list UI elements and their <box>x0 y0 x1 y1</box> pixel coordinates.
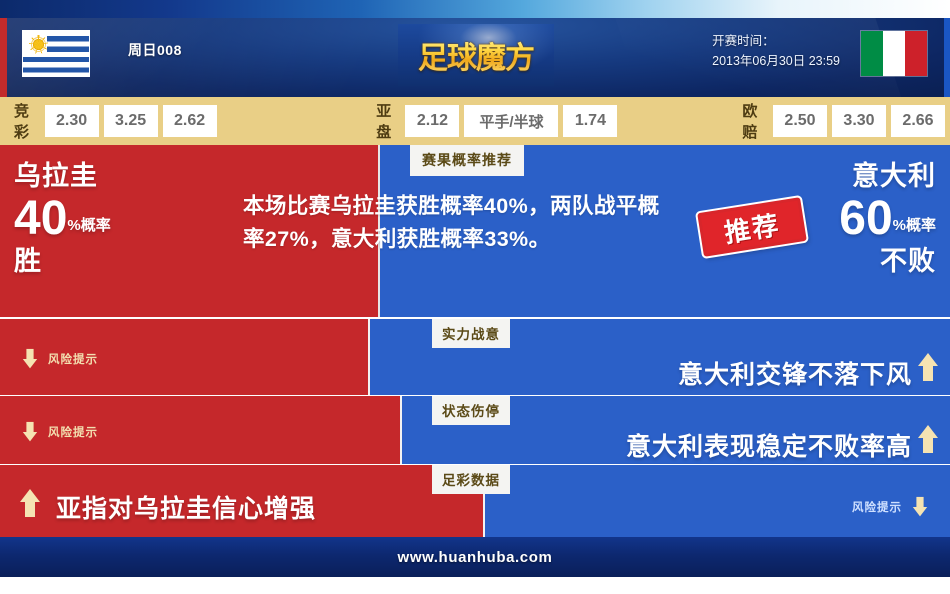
away-team-summary: 意大利 60%概率 不败 <box>839 159 936 277</box>
odds-cell[interactable]: 3.30 <box>832 105 886 137</box>
arrow-down-icon <box>23 349 37 369</box>
header-red-accent-bar <box>0 18 7 97</box>
odds-group-label: 竞彩 <box>14 100 38 142</box>
row-divider <box>400 396 402 464</box>
odds-cell[interactable]: 1.74 <box>563 105 617 137</box>
top-gradient-strip <box>0 0 950 18</box>
brand-logo: 足球魔方 <box>398 24 554 86</box>
row-risk-note-text: 风险提示 <box>48 351 98 367</box>
odds-group-label: 亚盘 <box>376 100 398 142</box>
info-row-betting-data: 足彩数据 亚指对乌拉圭信心增强 风险提示 <box>0 465 950 537</box>
kickoff-label: 开赛时间： <box>712 31 840 51</box>
info-row-strength: 实力战意 意大利交锋不落下风 风险提示 <box>0 319 950 395</box>
away-team-name: 意大利 <box>839 159 936 193</box>
uruguay-flag-icon <box>22 30 90 77</box>
kickoff-time: 2013年06月30日 23:59 <box>712 51 840 71</box>
italy-red-band <box>905 31 927 76</box>
away-probability-suffix: %概率 <box>893 214 936 235</box>
row-risk-note: 风险提示 <box>20 418 98 446</box>
arrow-up-icon <box>918 425 938 453</box>
row-risk-note: 风险提示 <box>20 345 98 373</box>
site-url[interactable]: www.huanhuba.com <box>398 549 553 566</box>
header-blue-accent-bar <box>944 18 950 97</box>
arrow-down-icon <box>913 497 927 517</box>
odds-group-yapan: 亚盘 2.12 平手/半球 1.74 <box>362 100 622 142</box>
odds-bar: 竞彩 2.30 3.25 2.62 亚盘 2.12 平手/半球 1.74 欧赔 … <box>0 97 950 145</box>
odds-cell[interactable]: 2.12 <box>405 105 459 137</box>
row-tag: 实力战意 <box>432 319 510 348</box>
italy-white-band <box>883 31 905 76</box>
odds-cell-handicap[interactable]: 平手/半球 <box>464 105 558 137</box>
bottom-white-strip <box>0 577 950 594</box>
poster-root: 周日008 足球魔方 开赛时间： 2013年06月30日 23:59 竞彩 2.… <box>0 0 950 594</box>
brand-logo-text: 足球魔方 <box>418 33 534 77</box>
row-tag: 状态伤停 <box>432 396 510 425</box>
row-risk-note: 风险提示 <box>852 493 930 521</box>
probability-section-tag: 赛果概率推荐 <box>410 145 524 176</box>
row-divider <box>368 319 370 395</box>
row-risk-note-text: 风险提示 <box>852 499 902 515</box>
sun-of-may-icon <box>32 38 45 51</box>
row-headline: 意大利交锋不落下风 <box>678 355 912 391</box>
row-risk-note-text: 风险提示 <box>48 424 98 440</box>
home-probability-number: 40 <box>14 193 67 245</box>
info-row-form: 状态伤停 意大利表现稳定不败率高 风险提示 <box>0 396 950 464</box>
row-tag: 足彩数据 <box>432 465 510 494</box>
odds-cell[interactable]: 2.66 <box>891 105 945 137</box>
odds-group-oupei: 欧赔 2.50 3.30 2.66 <box>728 100 950 142</box>
odds-group-label: 欧赔 <box>742 100 766 142</box>
italy-green-band <box>861 31 883 76</box>
row-headline: 意大利表现稳定不败率高 <box>626 427 912 463</box>
uruguay-canton <box>23 31 47 56</box>
odds-cell[interactable]: 2.50 <box>773 105 827 137</box>
probability-panel: 乌拉圭 40%概率 胜 意大利 60%概率 不败 赛果概率推荐 本场比赛乌拉圭获… <box>0 145 950 317</box>
recommend-stamp-text: 推荐 <box>721 204 782 249</box>
arrow-up-icon <box>20 489 40 517</box>
match-number: 周日008 <box>128 40 182 60</box>
odds-cell[interactable]: 3.25 <box>104 105 158 137</box>
site-footer: www.huanhuba.com <box>0 537 950 577</box>
arrow-up-icon <box>918 353 938 381</box>
away-outcome-label: 不败 <box>839 245 936 277</box>
odds-cell[interactable]: 2.62 <box>163 105 217 137</box>
arrow-down-icon <box>23 422 37 442</box>
row-headline: 亚指对乌拉圭信心增强 <box>56 489 316 525</box>
italy-flag-icon <box>860 30 928 77</box>
home-probability-suffix: %概率 <box>67 214 110 235</box>
home-outcome-label: 胜 <box>14 245 111 277</box>
away-probability-number: 60 <box>839 193 892 245</box>
home-team-name: 乌拉圭 <box>14 159 111 193</box>
kickoff-info: 开赛时间： 2013年06月30日 23:59 <box>712 31 840 71</box>
home-team-summary: 乌拉圭 40%概率 胜 <box>14 159 111 277</box>
probability-description: 本场比赛乌拉圭获胜概率40%，两队战平概率27%，意大利获胜概率33%。 <box>243 190 673 256</box>
odds-cell[interactable]: 2.30 <box>45 105 99 137</box>
odds-group-jingcai: 竞彩 2.30 3.25 2.62 <box>0 100 222 142</box>
